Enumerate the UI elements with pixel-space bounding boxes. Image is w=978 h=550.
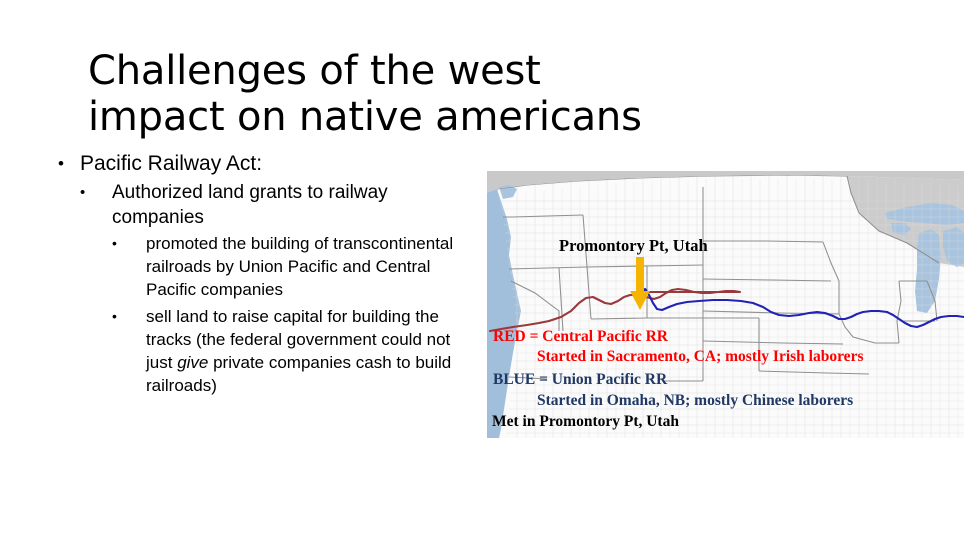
bullet-glyph-icon: • [80,180,85,205]
bullet-glyph-icon: • [58,150,64,177]
legend-red-sacramento-detail: Started in Sacramento, CA; mostly Irish … [537,349,863,365]
bullet-level2-land-grants: • Authorized land grants to railway comp… [80,180,478,230]
bullet-level3-label-a: promoted the building of transcontinenta… [146,232,478,301]
bullet-level1-pacific-railway-act: • Pacific Railway Act: [58,150,478,177]
bullet-level2-label: Authorized land grants to railway compan… [112,180,478,230]
page-title: Challenges of the west impact on native … [88,48,708,140]
legend-red-central-pacific: RED = Central Pacific RR [493,329,668,345]
bullet-level1-label: Pacific Railway Act: [80,150,478,177]
bullet-glyph-icon: • [112,305,117,328]
promontory-point-label: Promontory Pt, Utah [559,237,708,254]
sell-land-italic-give: give [177,353,208,372]
legend-met-in-promontory: Met in Promontory Pt, Utah [492,414,679,430]
bullet-list: • Pacific Railway Act: • Authorized land… [58,150,478,401]
bullet-level3-label-b: sell land to raise capital for building … [146,305,478,397]
railroad-map-image: Promontory Pt, Utah RED = Central Pacifi… [487,171,964,438]
bullet-level3-promoted-building: • promoted the building of transcontinen… [112,232,478,301]
bullet-glyph-icon: • [112,232,117,255]
legend-blue-union-pacific: BLUE = Union Pacific RR [493,372,667,388]
bullet-level3-sell-land: • sell land to raise capital for buildin… [112,305,478,397]
legend-blue-omaha-detail: Started in Omaha, NB; mostly Chinese lab… [537,393,853,409]
down-arrow-icon [629,257,651,311]
